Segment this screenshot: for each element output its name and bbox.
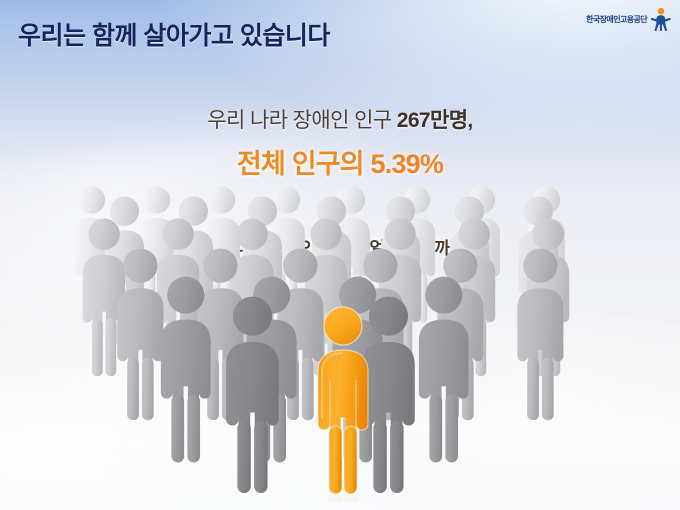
crowd-person-icon [134, 186, 179, 323]
crowd-person-icon [514, 196, 563, 344]
headline-percent-number: 5.39% [371, 149, 444, 179]
headline-line-1-prefix: 우리 나라 장애인 인구 [207, 109, 396, 132]
crowd-person-icon [155, 276, 216, 463]
organization-logo: 한국장애인고용공단 [586, 6, 672, 32]
crowd-person-icon [199, 186, 244, 323]
background-light-streak [0, 119, 407, 331]
headline-line-1: 우리 나라 장애인 인구 267만명, [0, 104, 680, 134]
background-light-streak [336, 315, 680, 464]
crowd-person-icon [445, 196, 494, 344]
page-title: 우리는 함께 살아가고 있습니다 [18, 16, 330, 52]
crowd-person-icon [524, 186, 569, 323]
crowd-person-icon [376, 196, 425, 344]
crowd-person-icon [522, 218, 574, 376]
crowd-person-icon [100, 196, 149, 344]
crowd-person-icon [78, 218, 130, 376]
slide-canvas: 우리 나라 장애인 인구 267만명, 전체 인구의 5.39% 우리나라 장애… [0, 0, 680, 510]
question-text: 우리나라 장애인 인구는 얼마나 될까요? [0, 234, 680, 259]
headline-line-2: 전체 인구의 5.39% [0, 142, 680, 181]
crowd-person-icon [112, 248, 169, 420]
crowd-person-icon [238, 196, 287, 344]
crowd-person-icon [329, 186, 374, 323]
crowd-person-icon [152, 218, 204, 376]
crowd-person-icon [169, 196, 218, 344]
crowd-person-icon [374, 218, 426, 376]
headline-block: 우리 나라 장애인 인구 267만명, 전체 인구의 5.39% [0, 104, 680, 181]
crowd-person-icon [264, 186, 309, 323]
crowd-person-icon [432, 248, 489, 420]
headline-population-number: 267만명, [397, 109, 473, 132]
crowd-person-icon [413, 276, 474, 463]
crowd-person-icon [448, 218, 500, 376]
crowd-person-icon [226, 218, 278, 376]
crowd-person-icon [512, 248, 569, 420]
crowd-person-icon [69, 186, 114, 323]
crowd-person-icon [241, 276, 302, 463]
crowd-person-icon [459, 186, 504, 323]
crowd-person-icon [220, 296, 285, 493]
logo-text: 한국장애인고용공단 [586, 14, 647, 25]
hero-figure-reflection [312, 492, 374, 510]
hero-orange-person-icon [312, 306, 374, 494]
headline-line-2-prefix: 전체 인구의 [237, 149, 371, 179]
crowd-person-icon [192, 248, 249, 420]
crowd-person-icon [394, 186, 439, 323]
person-logo-icon [650, 7, 672, 31]
